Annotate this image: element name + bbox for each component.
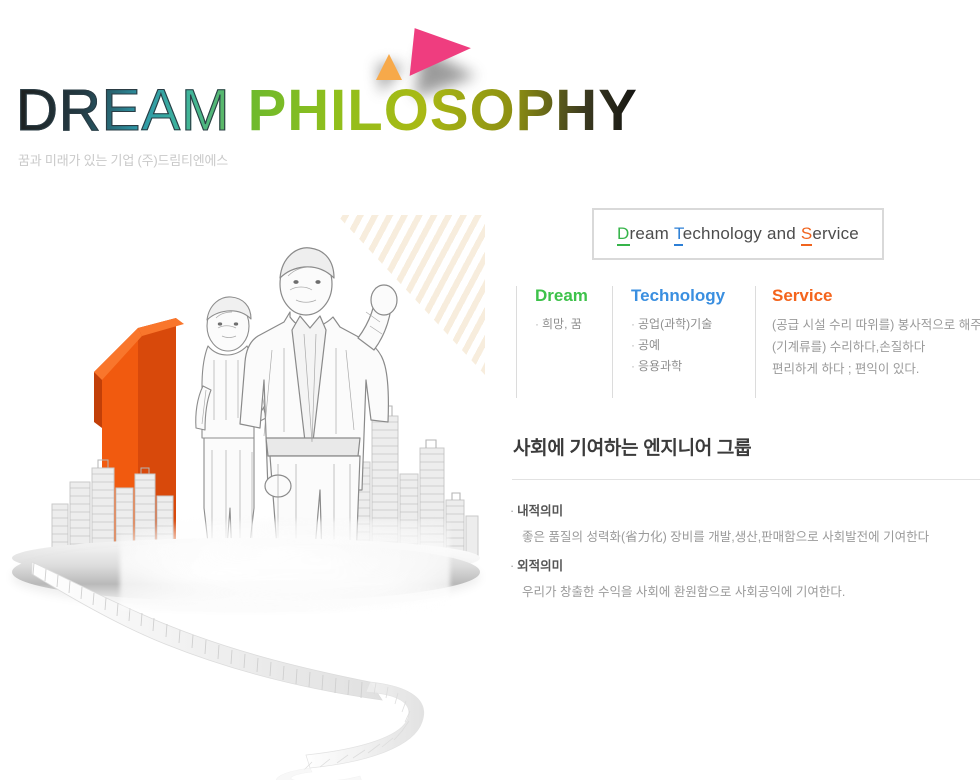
list-item: ·희망, 꿈 <box>535 314 612 335</box>
hero-illustration <box>0 190 500 780</box>
meaning-term-external-label: 외적의미 <box>517 559 563 573</box>
meaning-term-external: ·외적의미 <box>510 555 980 574</box>
dts-slogan-text: Dream Technology and Service <box>617 224 859 244</box>
dts-word-service: ervice <box>812 224 859 243</box>
bullet-icon: · <box>510 559 514 573</box>
dts-slogan-box: Dream Technology and Service <box>592 208 884 260</box>
column-service-title: Service <box>772 286 980 306</box>
bullet-icon: · <box>631 317 635 331</box>
page-subtitle: 꿈과 미래가 있는 기업 (주)드림티엔에스 <box>18 150 228 169</box>
list-item: (기계류를) 수리하다,손질하다 <box>772 336 980 358</box>
section-heading: 사회에 기여하는 엔지니어 그룹 <box>513 433 751 460</box>
wordmark-philosophy: PHILOSOPHY <box>248 78 638 143</box>
meaning-term-internal-label: 내적의미 <box>517 504 563 518</box>
column-technology-item-2: 응용과학 <box>638 359 682 373</box>
meaning-term-internal: ·내적의미 <box>510 500 980 519</box>
column-technology-item-0: 공업(과학)기술 <box>638 317 712 331</box>
meaning-desc-internal: 좋은 품질의 성력화(省力化) 장비를 개발,생산,판매함으로 사회발전에 기여… <box>522 526 980 545</box>
section-divider <box>512 479 980 480</box>
person-man-sketch <box>238 238 398 560</box>
column-technology-title: Technology <box>631 286 755 306</box>
list-item: 편리하게 하다 ; 편익이 있다. <box>772 358 980 380</box>
column-dream: Dream ·희망, 꿈 <box>516 286 612 398</box>
dts-accent-t: T <box>674 224 683 246</box>
page-title: DREAM PHILOSOPHY <box>16 82 638 140</box>
dts-word-dream: ream <box>630 224 670 243</box>
column-dream-item-0: 희망, 꿈 <box>542 317 582 331</box>
dts-accent-s: S <box>801 224 813 246</box>
meaning-list: ·내적의미 좋은 품질의 성력화(省力化) 장비를 개발,생산,판매함으로 사회… <box>510 490 980 600</box>
column-service: Service (공급 시설 수리 따위를) 봉사적으로 해주다 (기계류를) … <box>755 286 980 398</box>
bullet-icon: · <box>631 338 635 352</box>
spiral-staircase-graphic <box>10 550 490 780</box>
column-dream-title: Dream <box>535 286 612 306</box>
bullet-icon: · <box>510 504 514 518</box>
column-technology: Technology ·공업(과학)기술 ·공예 ·응용과학 <box>612 286 755 398</box>
bullet-icon: · <box>535 317 539 331</box>
page-header: DREAM PHILOSOPHY 꿈과 미래가 있는 기업 (주)드림티엔에스 <box>0 0 980 190</box>
list-item: ·응용과학 <box>631 356 755 377</box>
column-technology-item-1: 공예 <box>638 338 660 352</box>
dts-accent-d: D <box>617 224 629 246</box>
definition-columns: Dream ·희망, 꿈 Technology ·공업(과학)기술 ·공예 ·응… <box>516 286 980 398</box>
meaning-desc-external: 우리가 창출한 수익을 사회에 환원함으로 사회공익에 기여한다. <box>522 581 980 600</box>
dts-word-technology: echnology <box>683 224 762 243</box>
wordmark-dream: DREAM <box>16 78 230 143</box>
triangle-pink-icon <box>410 28 473 82</box>
bullet-icon: · <box>631 359 635 373</box>
list-item: (공급 시설 수리 따위를) 봉사적으로 해주다 <box>772 314 980 336</box>
list-item: ·공업(과학)기술 <box>631 314 755 335</box>
dts-conjunction: and <box>767 224 796 243</box>
list-item: ·공예 <box>631 335 755 356</box>
content-panel: Dream Technology and Service Dream ·희망, … <box>500 190 980 780</box>
triangle-orange-icon <box>376 54 402 80</box>
